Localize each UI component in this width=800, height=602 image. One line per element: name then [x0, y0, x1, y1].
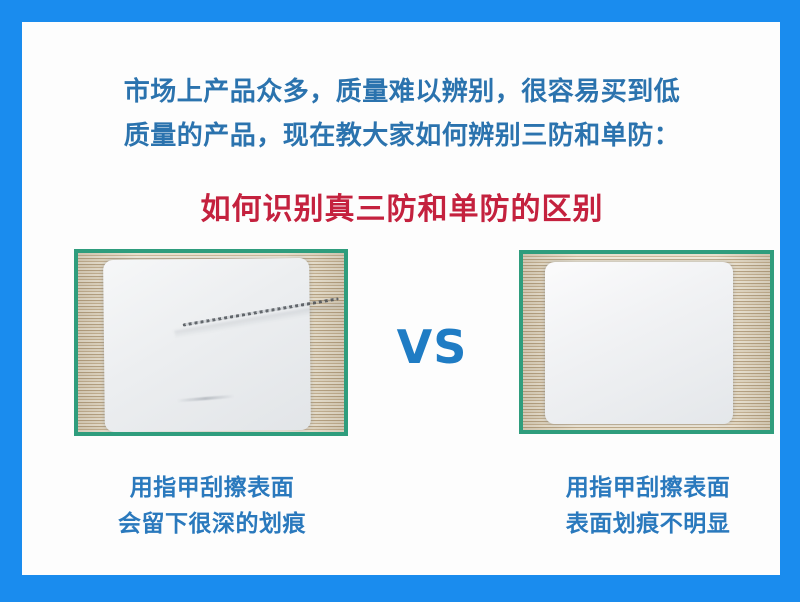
caption-left-line-2: 会留下很深的划痕 — [70, 506, 354, 542]
promo-image-root: 市场上产品众多，质量难以辨别，很容易买到低 质量的产品，现在教大家如何辨别三防和… — [0, 0, 800, 602]
intro-line-1: 市场上产品众多，质量难以辨别，很容易买到低 — [62, 70, 742, 114]
caption-right: 用指甲刮擦表面 表面划痕不明显 — [514, 470, 780, 542]
headline-title: 如何识别真三防和单防的区别 — [62, 190, 742, 230]
label-sample-scratched — [103, 258, 311, 432]
photo-panel-left — [74, 249, 348, 436]
photo-panel-right — [519, 250, 774, 434]
intro-paragraph: 市场上产品众多，质量难以辨别，很容易买到低 质量的产品，现在教大家如何辨别三防和… — [62, 70, 742, 158]
label-sample-clean — [545, 262, 733, 424]
white-content-sheet: 市场上产品众多，质量难以辨别，很容易买到低 质量的产品，现在教大家如何辨别三防和… — [22, 22, 780, 575]
intro-line-2: 质量的产品，现在教大家如何辨别三防和单防： — [62, 114, 742, 158]
caption-right-line-2: 表面划痕不明显 — [514, 506, 780, 542]
caption-left-line-1: 用指甲刮擦表面 — [70, 470, 354, 506]
vs-divider-label: VS — [362, 322, 502, 372]
surface-scuff-mark — [177, 395, 235, 403]
caption-right-line-1: 用指甲刮擦表面 — [514, 470, 780, 506]
caption-left: 用指甲刮擦表面 会留下很深的划痕 — [70, 470, 354, 542]
